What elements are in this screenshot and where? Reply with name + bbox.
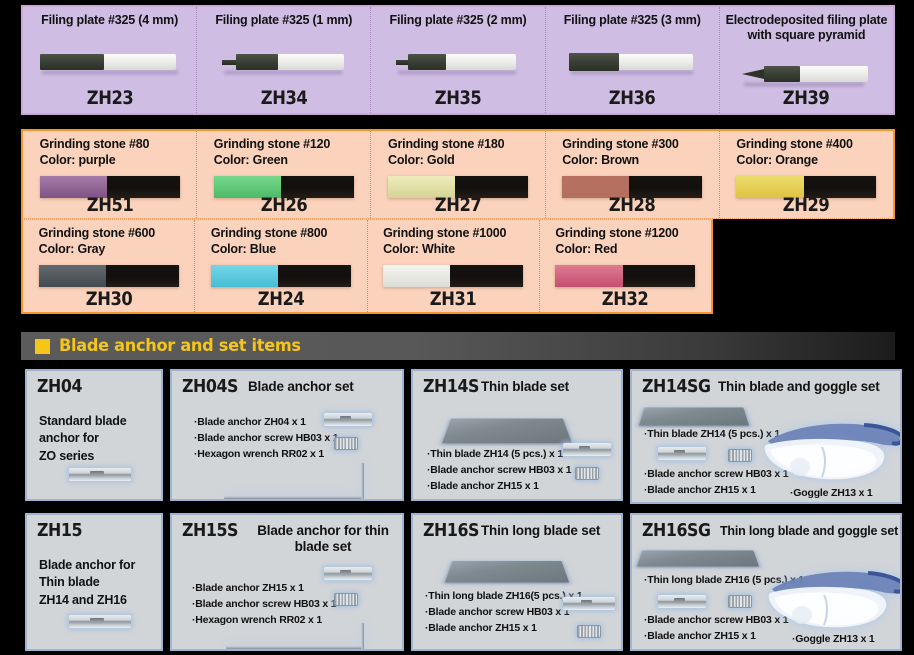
list-item: Hexagon wrench RR02 x 1 [194,447,338,463]
product-code: ZH51 [86,194,133,216]
stone-grit-label: Grinding stone #300 [562,137,678,151]
blade-anchor-image [658,595,706,608]
product-code: ZH39 [783,87,830,109]
section-banner-label: Blade anchor and set items [59,336,301,356]
product-code: ZH29 [783,194,830,216]
product-cell-zh26[interactable]: Grinding stone #120Color: Green ZH26 [196,131,370,218]
square-bullet-icon [35,339,50,354]
grinding-stones-row-1: Grinding stone #80Color: purple ZH51 Gri… [21,129,895,219]
product-cell-zh23[interactable]: Filing plate #325 (4 mm) ZH23 [23,7,196,113]
product-title: Grinding stone #1200Color: Red [555,226,695,257]
list-item: Blade anchor ZH04 x 1 [194,415,338,431]
filing-plates-panel: Filing plate #325 (4 mm) ZH23 Filing pla… [21,5,895,115]
anchor-screw-image [334,593,358,606]
product-card-zh16sg[interactable]: ZH16SG Thin long blade and goggle set Th… [630,513,902,651]
product-title: Grinding stone #300Color: Brown [562,137,702,168]
product-title: Filing plate #325 (2 mm) [390,13,527,28]
catalog-page: Filing plate #325 (4 mm) ZH23 Filing pla… [0,0,914,655]
grinding-stone-image [211,265,351,287]
anchor-screw-image [334,437,358,450]
stone-grit-label: Grinding stone #80 [40,137,150,151]
product-code: ZH16SG [642,520,711,541]
product-title: Thin long blade set [481,523,600,539]
product-code: ZH23 [86,87,133,109]
blade-anchor-image [563,443,611,456]
product-cell-zh28[interactable]: Grinding stone #300Color: Brown ZH28 [545,131,719,218]
thin-blade-image [639,407,749,425]
grinding-stones-row-2: Grinding stone #600Color: Gray ZH30 Grin… [21,219,713,314]
product-cell-zh29[interactable]: Grinding stone #400Color: Orange ZH29 [719,131,893,218]
product-code: ZH35 [435,87,482,109]
product-title: Filing plate #325 (3 mm) [564,13,701,28]
goggle-note: Goggle ZH13 x 1 [792,633,875,645]
product-cell-zh31[interactable]: Grinding stone #1000Color: White ZH31 [367,220,539,312]
product-cell-zh34[interactable]: Filing plate #325 (1 mm) ZH34 [196,7,370,113]
stone-color-label: Color: Gray [39,242,106,256]
product-code: ZH04 [37,376,82,397]
grinding-stone-image [39,265,179,287]
hexagon-wrench-image [226,623,364,649]
hexagon-wrench-image [224,463,364,499]
product-cell-zh27[interactable]: Grinding stone #180Color: Gold ZH27 [370,131,544,218]
anchor-screw-image [728,449,752,462]
product-card-zh14s[interactable]: ZH14S Thin blade set Thin blade ZH14 (5 … [411,369,623,501]
product-contents-list: Blade anchor ZH15 x 1 Blade anchor screw… [192,581,336,628]
filing-plate-image [222,51,346,73]
goggle-image [764,559,902,637]
stone-grit-label: Grinding stone #600 [39,226,155,240]
product-code: ZH24 [258,288,305,310]
stone-grit-label: Grinding stone #800 [211,226,327,240]
thin-blade-image [442,419,572,444]
product-code: ZH15 [37,520,82,541]
thin-long-blade-image [637,550,759,566]
product-title: Grinding stone #120Color: Green [214,137,354,168]
product-card-zh15[interactable]: ZH15 Blade anchor for Thin blade ZH14 an… [25,513,163,651]
section-banner-blade-anchor: Blade anchor and set items [21,332,895,360]
stone-color-label: Color: Gold [388,153,455,167]
product-card-zh15s[interactable]: ZH15S Blade anchor for thin blade set Bl… [170,513,404,651]
product-cell-zh36[interactable]: Filing plate #325 (3 mm) ZH36 [545,7,719,113]
stone-color-label: Color: Blue [211,242,276,256]
product-title: Grinding stone #180Color: Gold [388,137,528,168]
product-code: ZH16S [423,520,479,541]
stone-grit-label: Grinding stone #1000 [383,226,506,240]
product-title: Blade anchor set [248,379,354,395]
list-item: Blade anchor ZH15 x 1 [425,621,582,637]
blade-anchor-image [69,468,131,481]
product-code: ZH14SG [642,376,711,397]
product-title: Electrodeposited filing plate with squar… [720,13,893,43]
stone-color-label: Color: Red [555,242,617,256]
blade-anchor-image [69,615,131,628]
product-cell-zh24[interactable]: Grinding stone #800Color: Blue ZH24 [194,220,366,312]
blade-anchor-image [324,413,372,426]
product-title: Blade anchor for thin blade set [248,523,398,555]
anchor-screw-image [575,467,599,480]
product-contents-list: Blade anchor ZH04 x 1 Blade anchor screw… [194,415,338,462]
list-item: Thin blade ZH14 (5 pcs.) x 1 [427,447,571,463]
product-title: Filing plate #325 (1 mm) [215,13,352,28]
product-cell-zh30[interactable]: Grinding stone #600Color: Gray ZH30 [23,220,194,312]
blade-anchor-image [658,447,706,460]
list-item: Blade anchor ZH15 x 1 [192,581,336,597]
anchor-screw-image [577,625,601,638]
product-code: ZH32 [602,288,649,310]
blade-anchor-image [324,567,372,580]
filing-plate-image [569,51,695,73]
list-item: Thin long blade ZH16(5 pcs.) x 1 [425,589,582,605]
product-cell-zh39[interactable]: Electrodeposited filing plate with squar… [719,7,893,113]
stone-grit-label: Grinding stone #400 [736,137,852,151]
stone-color-label: Color: purple [40,153,116,167]
product-title: Thin long blade and goggle set [720,524,898,539]
product-cell-zh51[interactable]: Grinding stone #80Color: purple ZH51 [23,131,196,218]
stone-color-label: Color: Green [214,153,288,167]
anchor-screw-image [728,595,752,608]
product-title: Grinding stone #1000Color: White [383,226,523,257]
list-item: Blade anchor screw HB03 x 1 [192,597,336,613]
product-card-zh04[interactable]: ZH04 Standard blade anchor for ZO series [25,369,163,501]
product-title: Grinding stone #600Color: Gray [39,226,179,257]
product-title: Grinding stone #400Color: Orange [736,137,876,168]
filing-plate-image [742,63,870,85]
product-code: ZH14S [423,376,479,397]
grinding-stone-image [383,265,523,287]
product-code: ZH27 [435,194,482,216]
list-item: Blade anchor screw HB03 x 1 [194,431,338,447]
product-code: ZH04S [182,376,238,397]
product-cell-zh32[interactable]: Grinding stone #1200Color: Red ZH32 [539,220,711,312]
goggle-note: Goggle ZH13 x 1 [790,487,873,499]
product-title: Thin blade set [481,379,569,395]
product-contents-list: Thin long blade ZH16(5 pcs.) x 1 Blade a… [425,589,582,636]
product-title: Thin blade and goggle set [718,379,880,395]
product-code: ZH30 [85,288,132,310]
stone-grit-label: Grinding stone #120 [214,137,330,151]
product-code: ZH34 [261,87,308,109]
thin-long-blade-image [445,561,569,582]
product-code: ZH36 [609,87,656,109]
product-description: Blade anchor for Thin blade ZH14 and ZH1… [39,557,135,609]
filing-plate-image [40,51,180,73]
product-card-zh14sg[interactable]: ZH14SG Thin blade and goggle set Thin bl… [630,369,902,504]
goggle-image [760,411,902,489]
list-item: Blade anchor screw HB03 x 1 [425,605,582,621]
product-code: ZH31 [430,288,477,310]
grinding-stone-image [555,265,695,287]
blade-anchor-image [563,597,615,610]
stone-color-label: Color: White [383,242,455,256]
product-cell-zh35[interactable]: Filing plate #325 (2 mm) ZH35 [370,7,544,113]
product-code: ZH15S [182,520,238,541]
list-item: Blade anchor ZH15 x 1 [427,479,571,495]
product-contents-list: Thin blade ZH14 (5 pcs.) x 1 Blade ancho… [427,447,571,494]
product-card-zh04s[interactable]: ZH04S Blade anchor set Blade anchor ZH04… [170,369,404,501]
product-title: Grinding stone #800Color: Blue [211,226,351,257]
list-item: Blade anchor screw HB03 x 1 [427,463,571,479]
product-code: ZH26 [261,194,308,216]
product-description: Standard blade anchor for ZO series [39,413,127,465]
stone-grit-label: Grinding stone #180 [388,137,504,151]
filing-plate-image [396,51,520,73]
stone-color-label: Color: Orange [736,153,817,167]
stone-grit-label: Grinding stone #1200 [555,226,678,240]
product-card-zh16s[interactable]: ZH16S Thin long blade set Thin long blad… [411,513,623,651]
stone-color-label: Color: Brown [562,153,639,167]
product-title: Grinding stone #80Color: purple [40,137,180,168]
product-title: Filing plate #325 (4 mm) [41,13,178,28]
product-code: ZH28 [609,194,656,216]
